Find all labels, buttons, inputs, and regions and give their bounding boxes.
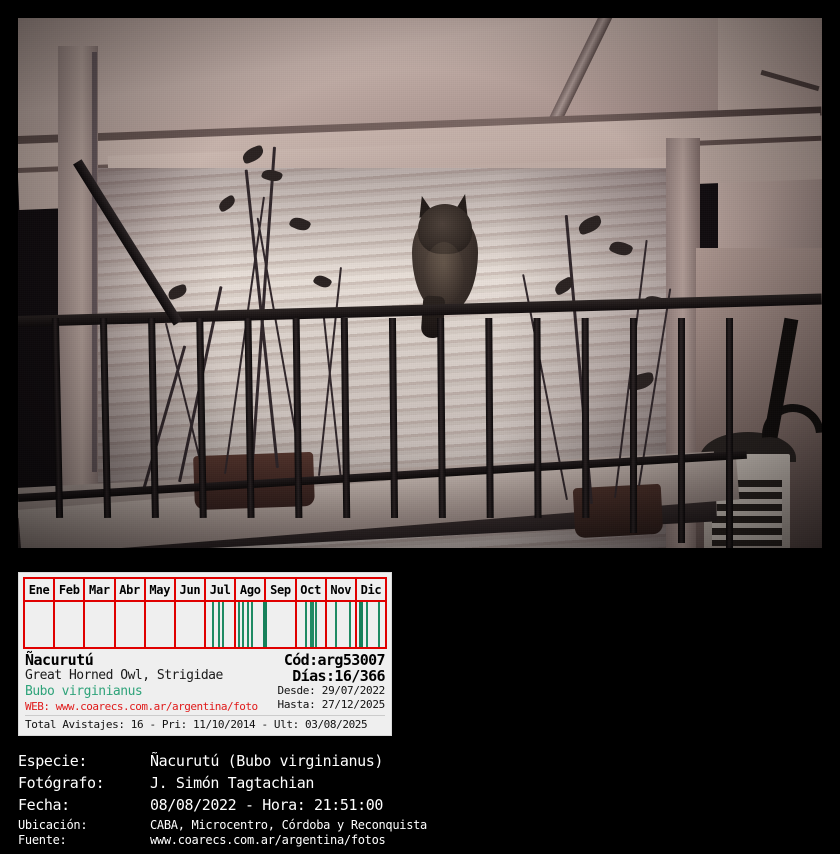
meta-row-1: Fotógrafo:J. Simón Tagtachian: [18, 774, 818, 792]
species-info-panel: EneFebMarAbrMayJunJulAgoSepOctNovDic Ñac…: [18, 572, 392, 736]
photo-baluster: [582, 318, 590, 518]
photo-baluster: [678, 318, 685, 543]
meta-row-1-label: Fotógrafo:: [18, 774, 150, 792]
calendar-month-header: EneFebMarAbrMayJunJulAgoSepOctNovDic: [25, 579, 385, 602]
meta-row-small-0-value: CABA, Microcentro, Córdoba y Reconquista: [150, 818, 427, 832]
desde-label: Desde:: [278, 684, 316, 697]
sighting-tick: [242, 602, 244, 647]
species-scientific-name: Bubo virginianus: [25, 684, 263, 700]
sighting-tick: [238, 602, 240, 647]
calendar-cell-abr: [116, 602, 146, 647]
meta-row-small-1-label: Fuente:: [18, 833, 150, 847]
species-common-name-en: Great Horned Owl, Strigidae: [25, 668, 263, 684]
photo-baluster: [533, 318, 541, 518]
hasta-value: 27/12/2025: [322, 698, 385, 711]
calendar-cell-may: [146, 602, 176, 647]
calendar-month-jul: Jul: [206, 579, 236, 600]
web-url[interactable]: www.coarecs.com.ar/argentina/foto: [56, 700, 258, 713]
hasta-label: Hasta:: [278, 698, 316, 711]
meta-row-small-0-label: Ubicación:: [18, 818, 150, 832]
sighting-tick: [312, 602, 314, 647]
calendar-cell-sep: [266, 602, 296, 647]
web-label: WEB:: [25, 700, 50, 713]
calendar-cell-feb: [55, 602, 85, 647]
sighting-tick: [305, 602, 307, 647]
calendar-month-ago: Ago: [236, 579, 266, 600]
calendar-month-mar: Mar: [85, 579, 115, 600]
meta-row-2-label: Fecha:: [18, 796, 150, 814]
meta-row-2-value: 08/08/2022 - Hora: 21:51:00: [150, 796, 383, 814]
dias-line: Días:16/366: [255, 668, 385, 684]
meta-row-small-1-value: www.coarecs.com.ar/argentina/fotos: [150, 833, 385, 847]
species-info-right-column: Cód:arg53007 Días:16/366 Desde: 29/07/20…: [255, 652, 385, 712]
photo-baluster: [726, 318, 733, 548]
sighting-calendar: EneFebMarAbrMayJunJulAgoSepOctNovDic: [23, 577, 387, 649]
calendar-cell-jun: [176, 602, 206, 647]
meta-row-small-1: Fuente:www.coarecs.com.ar/argentina/foto…: [18, 833, 818, 847]
hasta-line: Hasta: 27/12/2025: [255, 698, 385, 712]
sighting-tick: [366, 602, 368, 647]
dias-value: 16/366: [334, 667, 385, 685]
calendar-month-ene: Ene: [25, 579, 55, 600]
photo-baluster: [630, 318, 637, 533]
sighting-tick: [218, 602, 220, 647]
sighting-tick: [315, 602, 317, 647]
species-common-name-es: Ñacurutú: [25, 652, 263, 668]
calendar-month-oct: Oct: [297, 579, 327, 600]
calendar-cell-ene: [25, 602, 55, 647]
total-sightings-line: Total Avistajes: 16 - Pri: 11/10/2014 - …: [25, 715, 385, 731]
calendar-month-nov: Nov: [327, 579, 357, 600]
calendar-sighting-track: [25, 602, 385, 647]
meta-row-0: Especie:Ñacurutú (Bubo virginianus): [18, 752, 818, 770]
calendar-month-feb: Feb: [55, 579, 85, 600]
calendar-cell-mar: [85, 602, 115, 647]
desde-value: 29/07/2022: [322, 684, 385, 697]
meta-row-0-label: Especie:: [18, 752, 150, 770]
meta-row-1-value: J. Simón Tagtachian: [150, 774, 314, 792]
calendar-cell-oct: [297, 602, 327, 647]
photograph: [18, 18, 822, 548]
sighting-tick: [222, 602, 224, 647]
sighting-tick: [310, 602, 312, 647]
sighting-tick: [251, 602, 253, 647]
calendar-month-abr: Abr: [116, 579, 146, 600]
calendar-cell-nov: [327, 602, 357, 647]
meta-row-2: Fecha:08/08/2022 - Hora: 21:51:00: [18, 796, 818, 814]
sighting-tick: [247, 602, 249, 647]
photo-owl-breast: [424, 242, 464, 304]
calendar-cell-jul: [206, 602, 236, 647]
codigo-line: Cód:arg53007: [255, 652, 385, 668]
photo-metadata-block: Especie:Ñacurutú (Bubo virginianus)Fotóg…: [18, 752, 818, 848]
calendar-month-sep: Sep: [266, 579, 296, 600]
dias-label: Días:: [292, 667, 334, 685]
sighting-tick: [335, 602, 337, 647]
sighting-tick: [212, 602, 214, 647]
desde-line: Desde: 29/07/2022: [255, 684, 385, 698]
species-info-left-column: Ñacurutú Great Horned Owl, Strigidae Bub…: [25, 652, 263, 714]
calendar-month-jun: Jun: [176, 579, 206, 600]
photo-left-jamb-edge: [92, 52, 97, 472]
calendar-month-may: May: [146, 579, 176, 600]
sighting-tick: [359, 602, 363, 647]
meta-row-small-0: Ubicación:CABA, Microcentro, Córdoba y R…: [18, 818, 818, 832]
sighting-tick: [378, 602, 380, 647]
calendar-cell-ago: [236, 602, 266, 647]
sighting-tick: [349, 602, 351, 647]
meta-row-0-value: Ñacurutú (Bubo virginianus): [150, 752, 383, 770]
species-info-text: Ñacurutú Great Horned Owl, Strigidae Bub…: [25, 652, 385, 714]
calendar-cell-dic: [357, 602, 385, 647]
calendar-month-dic: Dic: [357, 579, 385, 600]
photo-baluster: [485, 318, 493, 518]
species-web-line[interactable]: WEB: www.coarecs.com.ar/argentina/foto: [25, 700, 263, 714]
